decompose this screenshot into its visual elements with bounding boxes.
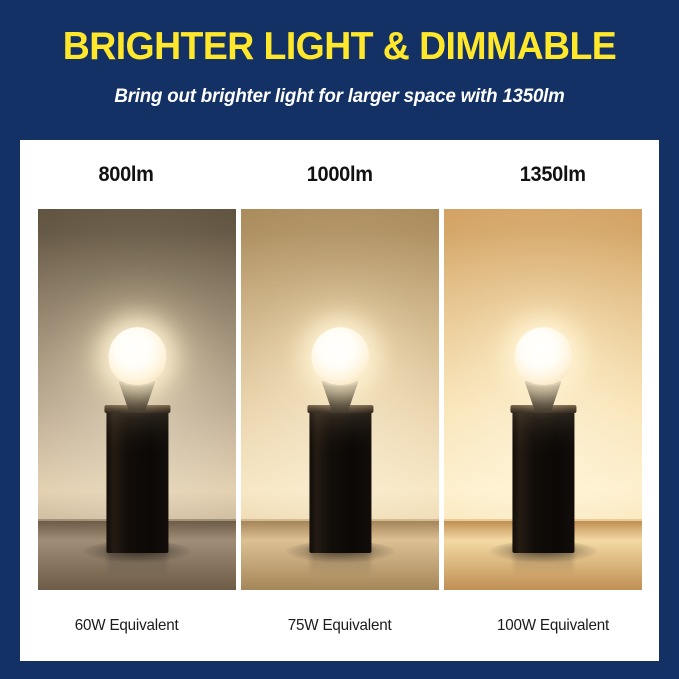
page-title: BRIGHTER LIGHT & DIMMABLE [14,24,666,70]
wattage-cell-1: 60W Equivalent [20,590,233,661]
lamp-base [106,407,168,553]
wattage-label-60w: 60W Equivalent [75,617,179,635]
lumen-cell-2: 1000lm [233,140,446,209]
wattage-cell-3: 100W Equivalent [446,590,659,661]
bulb-globe [108,327,166,385]
page-subtitle: Bring out brighter light for larger spac… [5,84,674,110]
photo-panel-row [38,209,642,590]
lumen-label-row: 800lm 1000lm 1350lm [20,140,659,209]
lamp-base [309,407,371,553]
wattage-label-row: 60W Equivalent 75W Equivalent 100W Equiv… [20,590,659,661]
lamp-base [512,407,574,553]
bulb-photo-1350lm [444,209,642,590]
lumen-cell-1: 800lm [20,140,233,209]
bulb-globe [514,327,572,385]
lumen-label-1350: 1350lm [520,163,586,187]
infographic-root: BRIGHTER LIGHT & DIMMABLE Bring out brig… [0,0,679,679]
lumen-label-800: 800lm [99,163,154,187]
wattage-label-75w: 75W Equivalent [288,617,392,635]
comparison-card: 800lm 1000lm 1350lm [20,140,659,661]
bulb-globe [311,327,369,385]
bulb-photo-800lm [38,209,236,590]
wattage-cell-2: 75W Equivalent [233,590,446,661]
bulb-photo-1000lm [241,209,439,590]
header-banner: BRIGHTER LIGHT & DIMMABLE Bring out brig… [0,0,679,140]
lumen-label-1000: 1000lm [307,163,373,187]
wattage-label-100w: 100W Equivalent [496,617,608,635]
lumen-cell-3: 1350lm [446,140,659,209]
